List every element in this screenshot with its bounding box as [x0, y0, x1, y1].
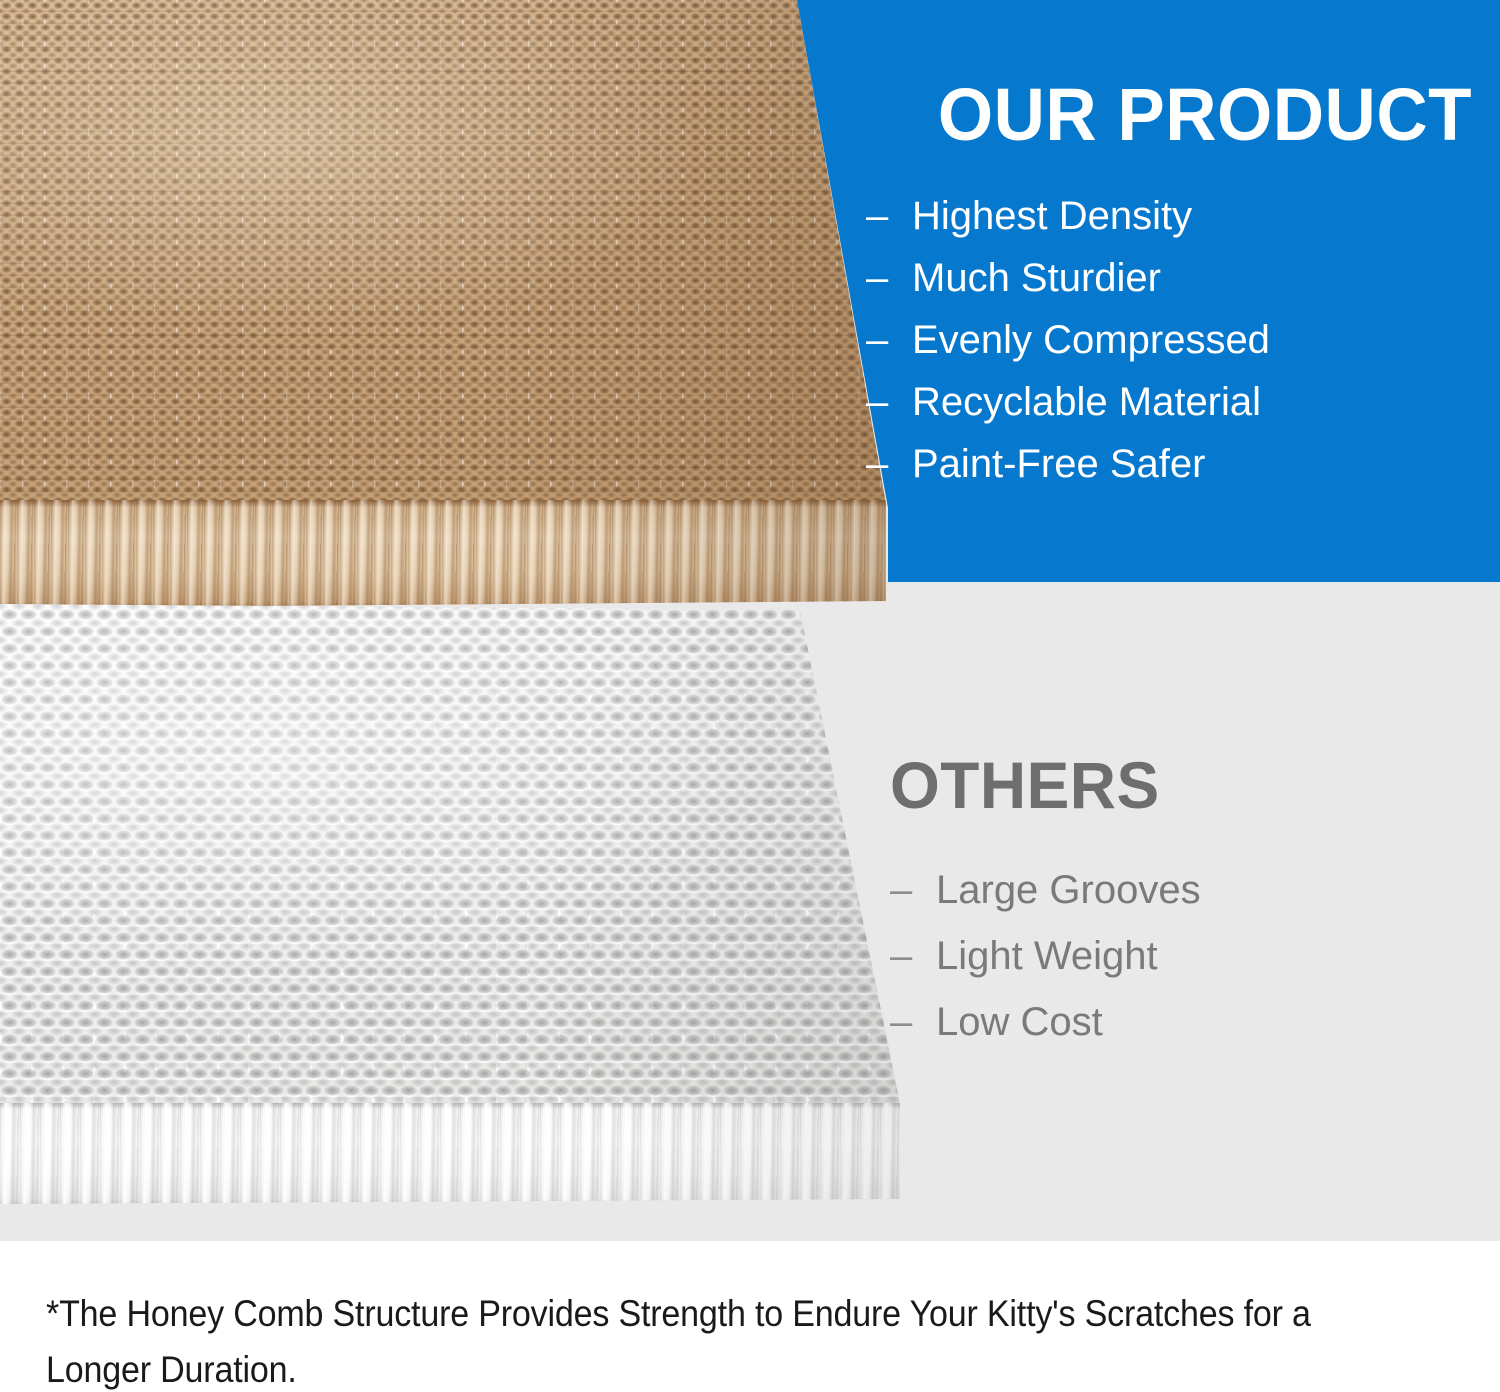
dash-bullet-icon: –	[890, 870, 936, 910]
white-board-front-edge	[0, 1103, 960, 1204]
feature-label: Light Weight	[936, 936, 1158, 976]
feature-label: Much Sturdier	[912, 258, 1161, 298]
feature-label: Paint-Free Safer	[912, 444, 1205, 484]
list-item: – Highest Density	[866, 196, 1486, 236]
list-item: – Evenly Compressed	[866, 320, 1486, 360]
feature-label: Low Cost	[936, 1002, 1103, 1042]
kraft-honeycomb-surface	[0, 0, 900, 506]
footnote-text: *The Honey Comb Structure Provides Stren…	[46, 1286, 1334, 1392]
kraft-board-front-edge	[0, 500, 900, 608]
feature-label: Recyclable Material	[912, 382, 1261, 422]
dash-bullet-icon: –	[890, 1002, 936, 1042]
our-product-section: OUR PRODUCT – Highest Density – Much Stu…	[866, 78, 1486, 506]
feature-label: Large Grooves	[936, 870, 1201, 910]
list-item: – Paint-Free Safer	[866, 444, 1486, 484]
dash-bullet-icon: –	[890, 936, 936, 976]
dash-bullet-icon: –	[866, 258, 912, 298]
feature-label: Highest Density	[912, 196, 1192, 236]
kraft-honeycomb-board-image	[0, 0, 900, 608]
list-item: – Light Weight	[890, 936, 1490, 976]
our-product-feature-list: – Highest Density – Much Sturdier – Even…	[866, 196, 1486, 484]
list-item: – Low Cost	[890, 1002, 1490, 1042]
list-item: – Recyclable Material	[866, 382, 1486, 422]
others-feature-list: – Large Grooves – Light Weight – Low Cos…	[890, 870, 1490, 1042]
list-item: – Much Sturdier	[866, 258, 1486, 298]
others-section: OTHERS – Large Grooves – Light Weight – …	[890, 752, 1490, 1068]
dash-bullet-icon: –	[866, 196, 912, 236]
others-title: OTHERS	[890, 752, 1472, 818]
dash-bullet-icon: –	[866, 444, 912, 484]
infographic-canvas: OUR PRODUCT – Highest Density – Much Stu…	[0, 0, 1500, 1392]
list-item: – Large Grooves	[890, 870, 1490, 910]
dash-bullet-icon: –	[866, 320, 912, 360]
white-honeycomb-board-image	[0, 604, 960, 1204]
our-product-title: OUR PRODUCT	[890, 78, 1472, 152]
feature-label: Evenly Compressed	[912, 320, 1270, 360]
dash-bullet-icon: –	[866, 382, 912, 422]
